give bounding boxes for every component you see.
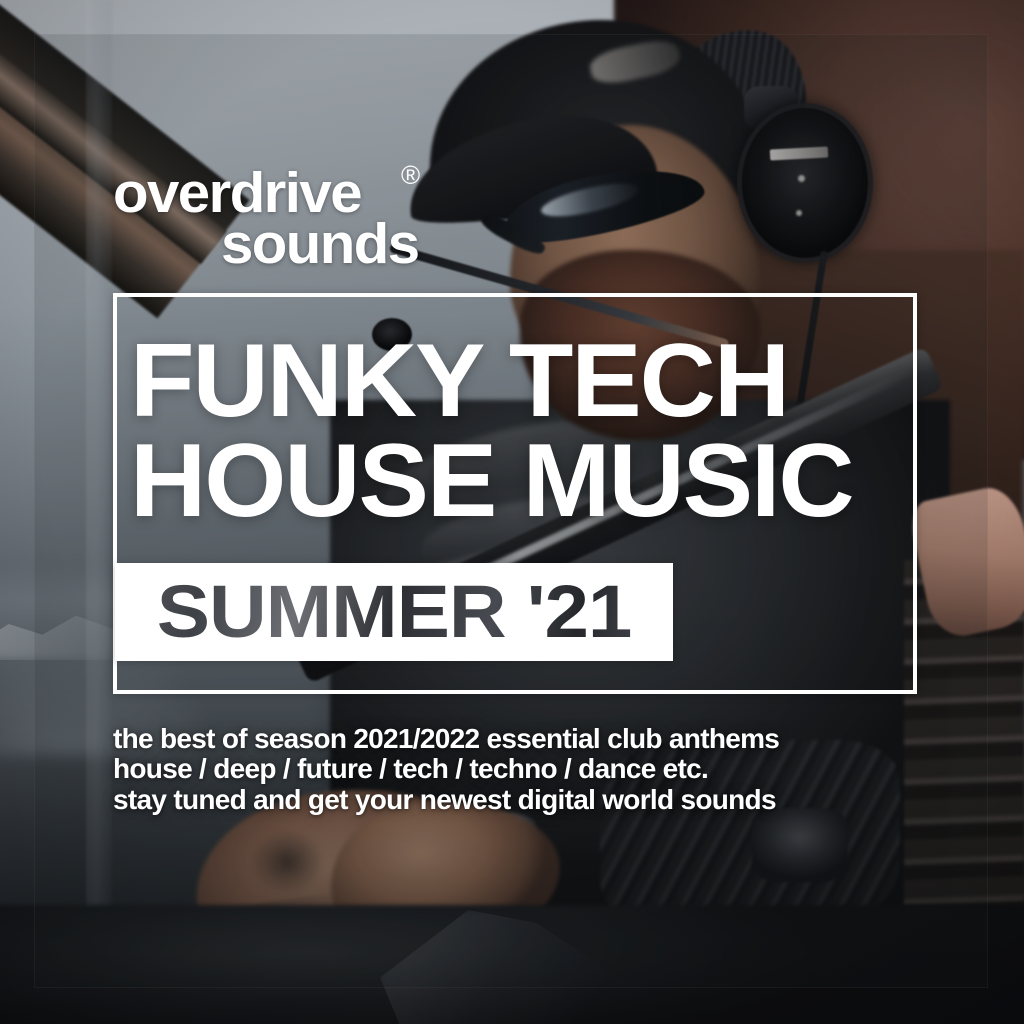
season-badge: SUMMER '21 bbox=[115, 563, 673, 661]
registered-trademark-icon: ® bbox=[401, 162, 420, 188]
tagline-line-1: the best of season 2021/2022 essential c… bbox=[113, 724, 913, 754]
tagline-line-2: house / deep / future / tech / techno / … bbox=[113, 754, 913, 784]
main-title: FUNKY TECH HOUSE MUSIC bbox=[130, 332, 910, 532]
tagline-line-3: stay tuned and get your newest digital w… bbox=[113, 785, 913, 815]
title-line-2: HOUSE MUSIC bbox=[130, 432, 922, 532]
album-cover: overdrive ® sounds FUNKY TECH HOUSE MUSI… bbox=[0, 0, 1024, 1024]
title-line-1: FUNKY TECH bbox=[130, 332, 922, 432]
brand-logo: overdrive ® sounds bbox=[113, 168, 443, 271]
tagline-block: the best of season 2021/2022 essential c… bbox=[113, 724, 913, 815]
season-badge-text: SUMMER '21 bbox=[115, 563, 673, 661]
logo-line-sounds: sounds bbox=[106, 219, 443, 270]
